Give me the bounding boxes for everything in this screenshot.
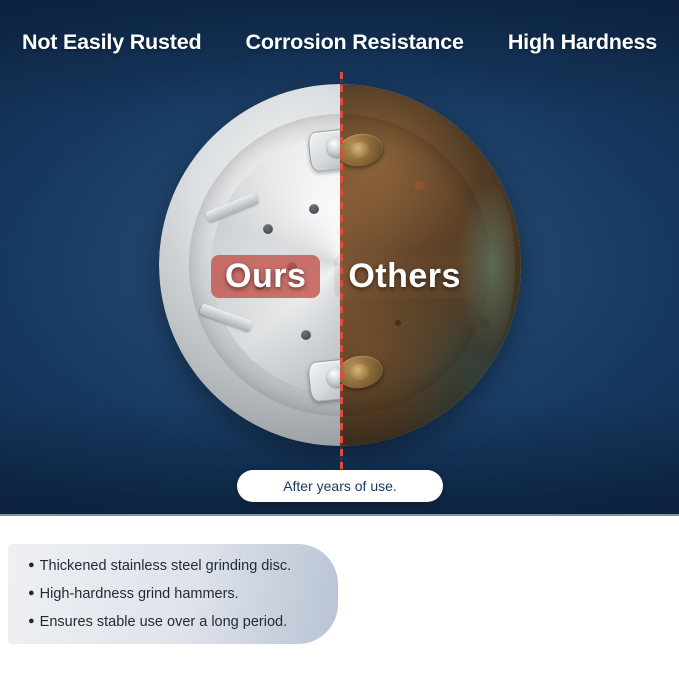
hammer-bolt-top	[327, 137, 340, 157]
disc-hole	[255, 280, 265, 290]
feature-text-1: Thickened stainless steel grinding disc.	[40, 558, 291, 574]
list-item: ●Ensures stable use over a long period.	[28, 608, 322, 636]
product-infographic: Not Easily Rusted Corrosion Resistance H…	[0, 0, 679, 679]
bullet-dot-icon: ●	[28, 559, 35, 571]
corrosion-patina	[457, 180, 515, 350]
headline-row: Not Easily Rusted Corrosion Resistance H…	[0, 30, 679, 55]
disc-half-others	[340, 84, 521, 446]
feature-list-card: ●Thickened stainless steel grinding disc…	[8, 544, 338, 644]
bolt-cap	[349, 140, 371, 159]
list-item: ●Thickened stainless steel grinding disc…	[28, 552, 322, 580]
disc-hole	[309, 204, 319, 214]
headline-high-hardness: High Hardness	[508, 30, 657, 55]
disc-art-clean	[159, 84, 340, 446]
feature-text-2: High-hardness grind hammers.	[40, 586, 239, 602]
headline-not-easily-rusted: Not Easily Rusted	[22, 30, 201, 55]
comparison-hero-panel: Not Easily Rusted Corrosion Resistance H…	[0, 0, 679, 516]
comparison-divider-line	[340, 72, 343, 474]
headline-corrosion-resistance: Corrosion Resistance	[246, 30, 464, 55]
after-years-caption-pill: After years of use.	[237, 470, 443, 502]
features-panel: ●Thickened stainless steel grinding disc…	[0, 516, 679, 679]
list-item: ●High-hardness grind hammers.	[28, 580, 322, 608]
disc-hole	[301, 330, 311, 340]
feature-text-3: Ensures stable use over a long period.	[40, 614, 287, 630]
disc-hole	[287, 262, 297, 272]
disc-art-rusted	[340, 84, 521, 446]
disc-hole	[263, 224, 273, 234]
bolt-cap	[349, 362, 371, 381]
bullet-dot-icon: ●	[28, 615, 35, 627]
disc-half-ours	[159, 84, 340, 446]
after-years-caption-text: After years of use.	[283, 478, 397, 494]
hammer-bolt-bottom	[327, 367, 340, 387]
bullet-dot-icon: ●	[28, 587, 35, 599]
